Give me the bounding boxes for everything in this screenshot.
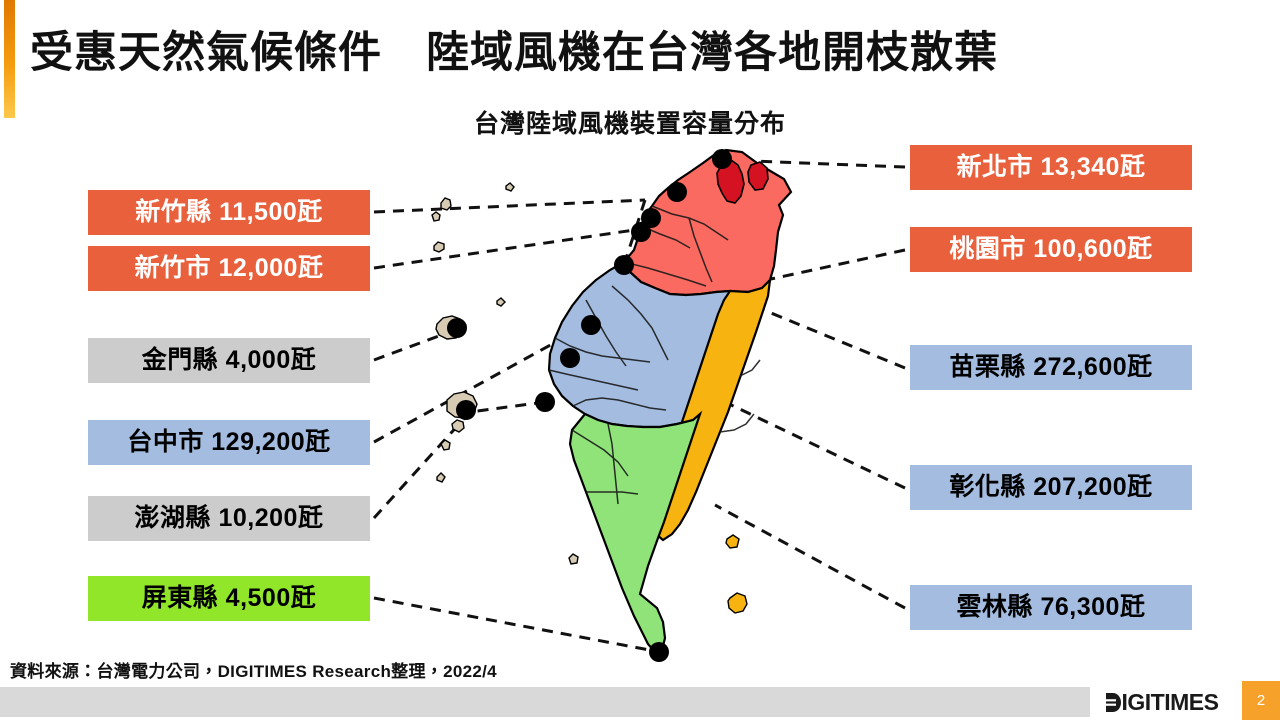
marker-taoyuan bbox=[667, 182, 687, 202]
island-matsu-a bbox=[441, 198, 451, 210]
marker-xinbei bbox=[712, 149, 732, 169]
leader-line-hsinchu-city bbox=[374, 228, 648, 268]
callout-taichung[interactable]: 台中市 129,200瓩 bbox=[88, 420, 370, 465]
marker-kinmen bbox=[447, 318, 467, 338]
island-dongyin bbox=[434, 242, 444, 252]
map-region-south bbox=[570, 414, 700, 652]
island-penghu-d bbox=[437, 473, 445, 482]
callout-taoyuan[interactable]: 桃園市 100,600瓩 bbox=[910, 227, 1192, 272]
callout-changhua[interactable]: 彰化縣 207,200瓩 bbox=[910, 465, 1192, 510]
marker-pingtung bbox=[649, 642, 669, 662]
marker-yunlin bbox=[535, 392, 555, 412]
island-green-island bbox=[726, 535, 739, 548]
island-orchid-island bbox=[728, 593, 747, 613]
island-matsu-c bbox=[506, 183, 514, 191]
leader-line-yunlin bbox=[715, 505, 905, 608]
marker-hsinchu-city bbox=[631, 222, 651, 242]
leader-line-hsinchu-county bbox=[374, 200, 645, 212]
callout-hsinchu-city[interactable]: 新竹市 12,000瓩 bbox=[88, 246, 370, 291]
marker-changhua bbox=[560, 348, 580, 368]
callout-hsinchu-county[interactable]: 新竹縣 11,500瓩 bbox=[88, 190, 370, 235]
callout-xinbei[interactable]: 新北市 13,340瓩 bbox=[910, 145, 1192, 190]
leader-line-inner-c bbox=[470, 402, 545, 412]
callout-miaoli[interactable]: 苗栗縣 272,600瓩 bbox=[910, 345, 1192, 390]
digitimes-d-icon bbox=[1106, 693, 1121, 712]
island-matsu-b bbox=[432, 212, 440, 221]
callout-penghu[interactable]: 澎湖縣 10,200瓩 bbox=[88, 496, 370, 541]
island-wuqiu bbox=[497, 298, 505, 306]
digitimes-logo: IGITIMES bbox=[1097, 687, 1227, 717]
callout-pingtung[interactable]: 屏東縣 4,500瓩 bbox=[88, 576, 370, 621]
leader-line-changhua bbox=[725, 402, 905, 488]
marker-penghu bbox=[456, 400, 476, 420]
callout-yunlin[interactable]: 雲林縣 76,300瓩 bbox=[910, 585, 1192, 630]
callout-kinmen[interactable]: 金門縣 4,000瓩 bbox=[88, 338, 370, 383]
leader-line-pingtung bbox=[374, 598, 660, 652]
source-note: 資料來源：台灣電力公司，DIGITIMES Research整理，2022/4 bbox=[10, 657, 497, 682]
marker-taichung bbox=[581, 315, 601, 335]
page-number-badge: 2 bbox=[1242, 681, 1280, 720]
map-region-keelung bbox=[748, 162, 768, 190]
bottom-bar bbox=[0, 687, 1090, 717]
marker-miaoli bbox=[614, 255, 634, 275]
slide-canvas: 受惠天然氣候條件 陸域風機在台灣各地開枝散葉 台灣陸域風機裝置容量分布 bbox=[0, 0, 1280, 720]
offshore-islands-east bbox=[726, 535, 747, 613]
island-xiaoliuqiu bbox=[569, 554, 578, 564]
digitimes-logo-text: IGITIMES bbox=[1122, 689, 1219, 716]
